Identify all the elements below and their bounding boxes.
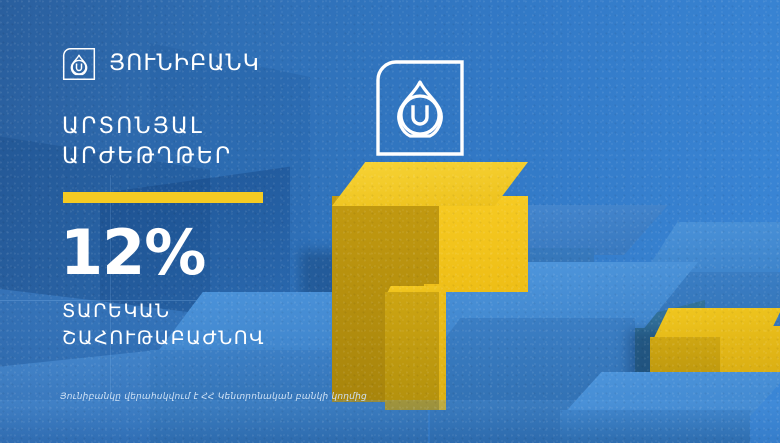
headline: ԱՐՏՈՆՅԱԼ ԱՐԺԵԹՂԹԵՐ [62,112,232,173]
brand-lockup: ՅՈՒՆԻԲԱՆԿ [62,47,260,81]
rate-subline: ՏԱՐԵԿԱՆ ՇԱՀՈՒԹԱԲԱԺՆՈՎ [62,298,265,352]
brand-name: ՅՈՒՆԻԲԱՆԿ [109,53,260,75]
banner-content: ՅՈՒՆԻԲԱՆԿ ԱՐՏՈՆՅԱԼ ԱՐԺԵԹՂԹԵՐ 12% ՏԱՐԵԿԱՆ… [0,0,780,443]
unibank-promo-banner: ՅՈՒՆԻԲԱՆԿ ԱՐՏՈՆՅԱԼ ԱՐԺԵԹՂԹԵՐ 12% ՏԱՐԵԿԱՆ… [0,0,780,443]
unibank-logo-icon [62,47,96,81]
accent-divider [63,192,263,203]
rate-value: 12% [60,222,205,284]
regulatory-disclaimer: Յունիբանկը վերահսկվում է ՀՀ Կենտրոնական … [60,392,367,402]
